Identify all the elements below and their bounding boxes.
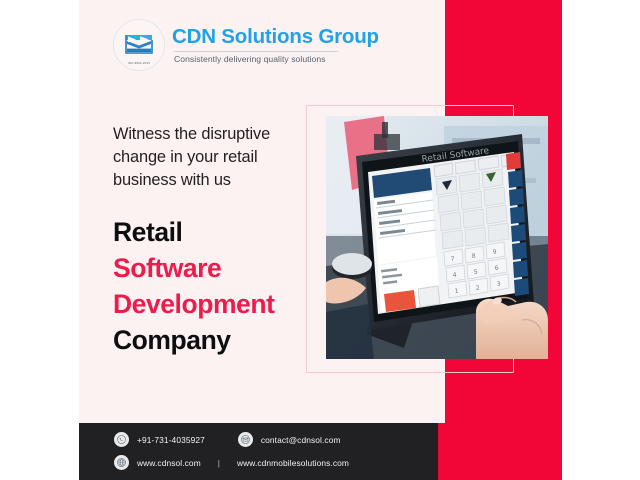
headline-line-1: Retail <box>113 215 318 251</box>
email-address: contact@cdnsol.com <box>261 435 341 445</box>
headline-line-2: Software <box>113 251 318 287</box>
website-primary[interactable]: www.cdnsol.com <box>137 458 201 468</box>
brand-lockup: ISO 9001:2015 CDN Solutions Group Consis… <box>113 19 379 71</box>
hero-kicker: Witness the disruptive change in your re… <box>113 123 318 192</box>
brand-name: CDN Solutions Group <box>172 26 379 48</box>
headline-line-3: Development <box>113 287 318 323</box>
website-secondary[interactable]: www.cdnmobilesolutions.com <box>237 458 349 468</box>
phone-icon <box>114 432 129 447</box>
brand-text: CDN Solutions Group Consistently deliver… <box>172 26 379 64</box>
brand-tagline: Consistently delivering quality solution… <box>174 54 379 64</box>
phone-number: +91-731-4035927 <box>137 435 205 445</box>
hero-headline: Retail Software Development Company <box>113 215 318 359</box>
iso-certification-label: ISO 9001:2015 <box>114 61 164 65</box>
cdn-envelope-logo-icon: ISO 9001:2015 <box>113 19 165 71</box>
footer-row-primary: +91-731-4035927 contact@cdnsol.com <box>114 432 341 447</box>
globe-icon <box>114 455 129 470</box>
website-separator: | <box>218 458 220 468</box>
promo-banner: ISO 9001:2015 CDN Solutions Group Consis… <box>0 0 640 480</box>
website-links[interactable]: www.cdnsol.com | www.cdnmobilesolutions.… <box>114 455 349 470</box>
email-contact[interactable]: contact@cdnsol.com <box>238 432 341 447</box>
footer-row-websites: www.cdnsol.com | www.cdnmobilesolutions.… <box>114 455 349 470</box>
hero-copy: Witness the disruptive change in your re… <box>113 123 318 359</box>
headline-line-4: Company <box>113 323 318 359</box>
contact-footer: +91-731-4035927 contact@cdnsol.com <box>79 423 438 480</box>
envelope-icon <box>238 432 253 447</box>
pos-terminal-photo: Retail Software <box>326 116 548 359</box>
brand-divider <box>174 51 338 52</box>
phone-contact[interactable]: +91-731-4035927 <box>114 432 205 447</box>
